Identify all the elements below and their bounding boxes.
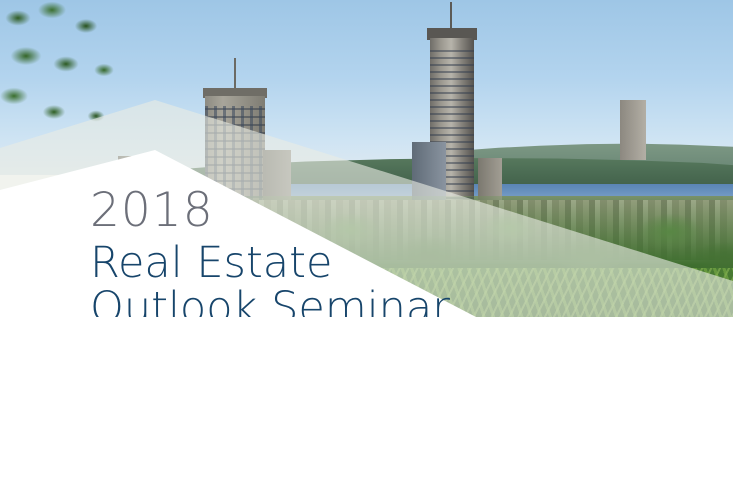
poster-canvas: 2018 Real Estate Outlook Seminar Canada …	[0, 0, 733, 480]
title-block: 2018 Real Estate Outlook Seminar	[90, 185, 510, 332]
building-right-tower	[620, 100, 646, 160]
antenna-mast-left	[234, 58, 236, 88]
page-title-year: 2018	[90, 185, 510, 237]
page-title-line1: Real Estate	[90, 239, 510, 287]
antenna-mast-tall	[450, 2, 452, 28]
logo-row: Canada ☘ REALTORS® ASSOCIATION of Hamilt…	[0, 317, 733, 480]
